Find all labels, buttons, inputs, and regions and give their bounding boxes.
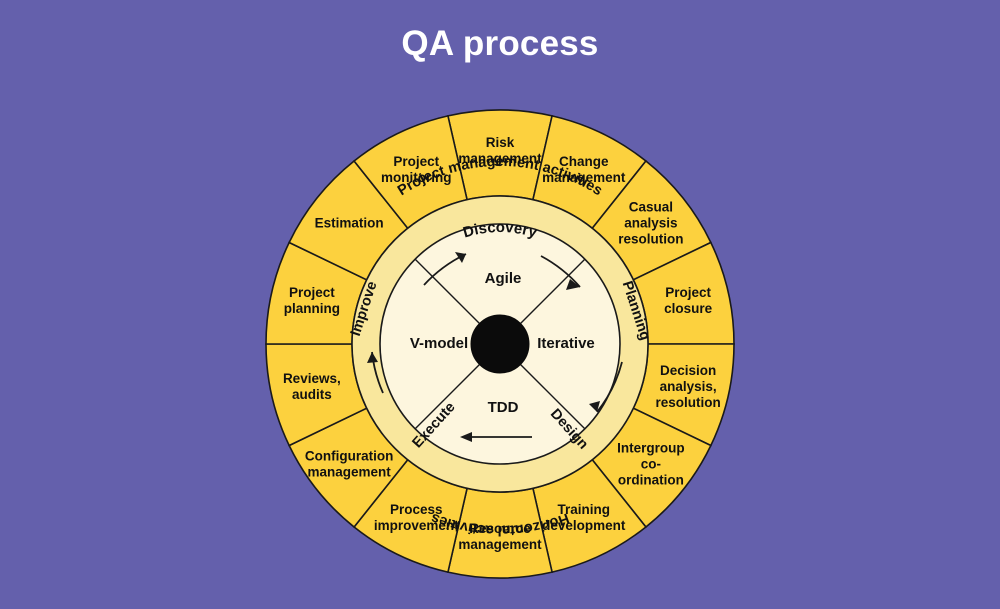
- label-v-model: V-model: [410, 335, 468, 352]
- label-tdd: TDD: [488, 399, 519, 416]
- label-agile: Agile: [485, 270, 522, 287]
- qa-process-wheel-diagram: RiskmanagementChangemanagementCasualanal…: [0, 0, 1000, 609]
- label-iterative: Iterative: [537, 335, 595, 352]
- outer-segment-label-configuration-management: Configurationmanagement: [305, 448, 393, 479]
- outer-segment-label-decision-analysis-resolution: Decisionanalysis,resolution: [656, 363, 721, 410]
- hub-circle: [471, 315, 529, 373]
- outer-segment-label-project-planning: Projectplanning: [284, 285, 340, 316]
- wheel-svg: RiskmanagementChangemanagementCasualanal…: [0, 0, 1000, 609]
- outer-segment-label-estimation: Estimation: [315, 215, 384, 230]
- outer-segment-label-project-closure: Projectclosure: [664, 285, 713, 316]
